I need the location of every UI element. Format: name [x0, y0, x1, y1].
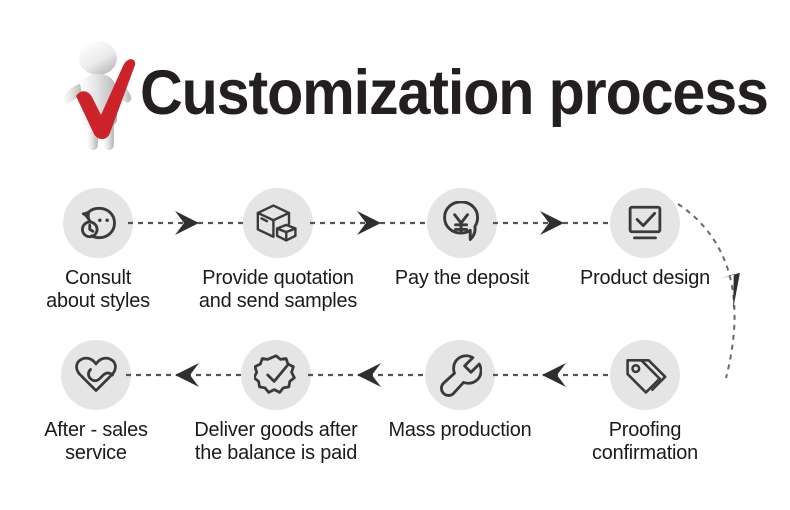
step-label: Deliver goods after the balance is paid: [184, 418, 368, 465]
heart-link-icon: [74, 353, 118, 397]
step-icon-circle: [63, 188, 133, 258]
header: Customization process: [0, 28, 790, 158]
step-icon-circle: [425, 340, 495, 410]
process-step-deliver-goods[interactable]: Deliver goods after the balance is paid: [181, 340, 371, 465]
dashed-arrow-right-icon: [310, 210, 430, 236]
step-label: Pay the deposit: [370, 266, 554, 289]
dashed-arrow-left-icon: [493, 362, 613, 388]
process-step-proofing-confirmation[interactable]: Proofing confirmation: [550, 340, 740, 465]
process-step-consult-about-styles[interactable]: Consult about styles: [3, 188, 193, 313]
step-icon-circle: [61, 340, 131, 410]
badge-check-icon: [254, 353, 298, 397]
step-icon-circle: [427, 188, 497, 258]
step-label: After - sales service: [4, 418, 188, 465]
chat-bubble-clock-icon: [76, 201, 120, 245]
process-row-2: After - sales service Deliver goods afte…: [0, 340, 790, 490]
process-step-mass-production[interactable]: Mass production: [365, 340, 555, 441]
package-box-icon: [256, 201, 300, 245]
process-step-provide-quotation[interactable]: Provide quotation and send samples: [183, 188, 373, 313]
dashed-arrow-right-icon: [128, 210, 248, 236]
step-label: Provide quotation and send samples: [186, 266, 370, 313]
wrench-icon: [438, 353, 482, 397]
customization-process-infographic: Customization process Consul: [0, 0, 790, 510]
step-label: Consult about styles: [6, 266, 190, 313]
yen-chat-bubble-icon: [440, 201, 484, 245]
step-icon-circle: [241, 340, 311, 410]
step-label: Proofing confirmation: [553, 418, 737, 465]
price-tags-icon: [623, 353, 667, 397]
dashed-arrow-right-icon: [493, 210, 613, 236]
process-step-pay-the-deposit[interactable]: Pay the deposit: [367, 188, 557, 289]
step-label: Mass production: [368, 418, 552, 441]
process-step-after-sales-service[interactable]: After - sales service: [1, 340, 191, 465]
step-icon-circle: [610, 340, 680, 410]
dashed-arrow-left-icon: [308, 362, 428, 388]
dashed-arrow-left-icon: [126, 362, 246, 388]
step-icon-circle: [243, 188, 313, 258]
page-title: Customization process: [140, 62, 768, 125]
